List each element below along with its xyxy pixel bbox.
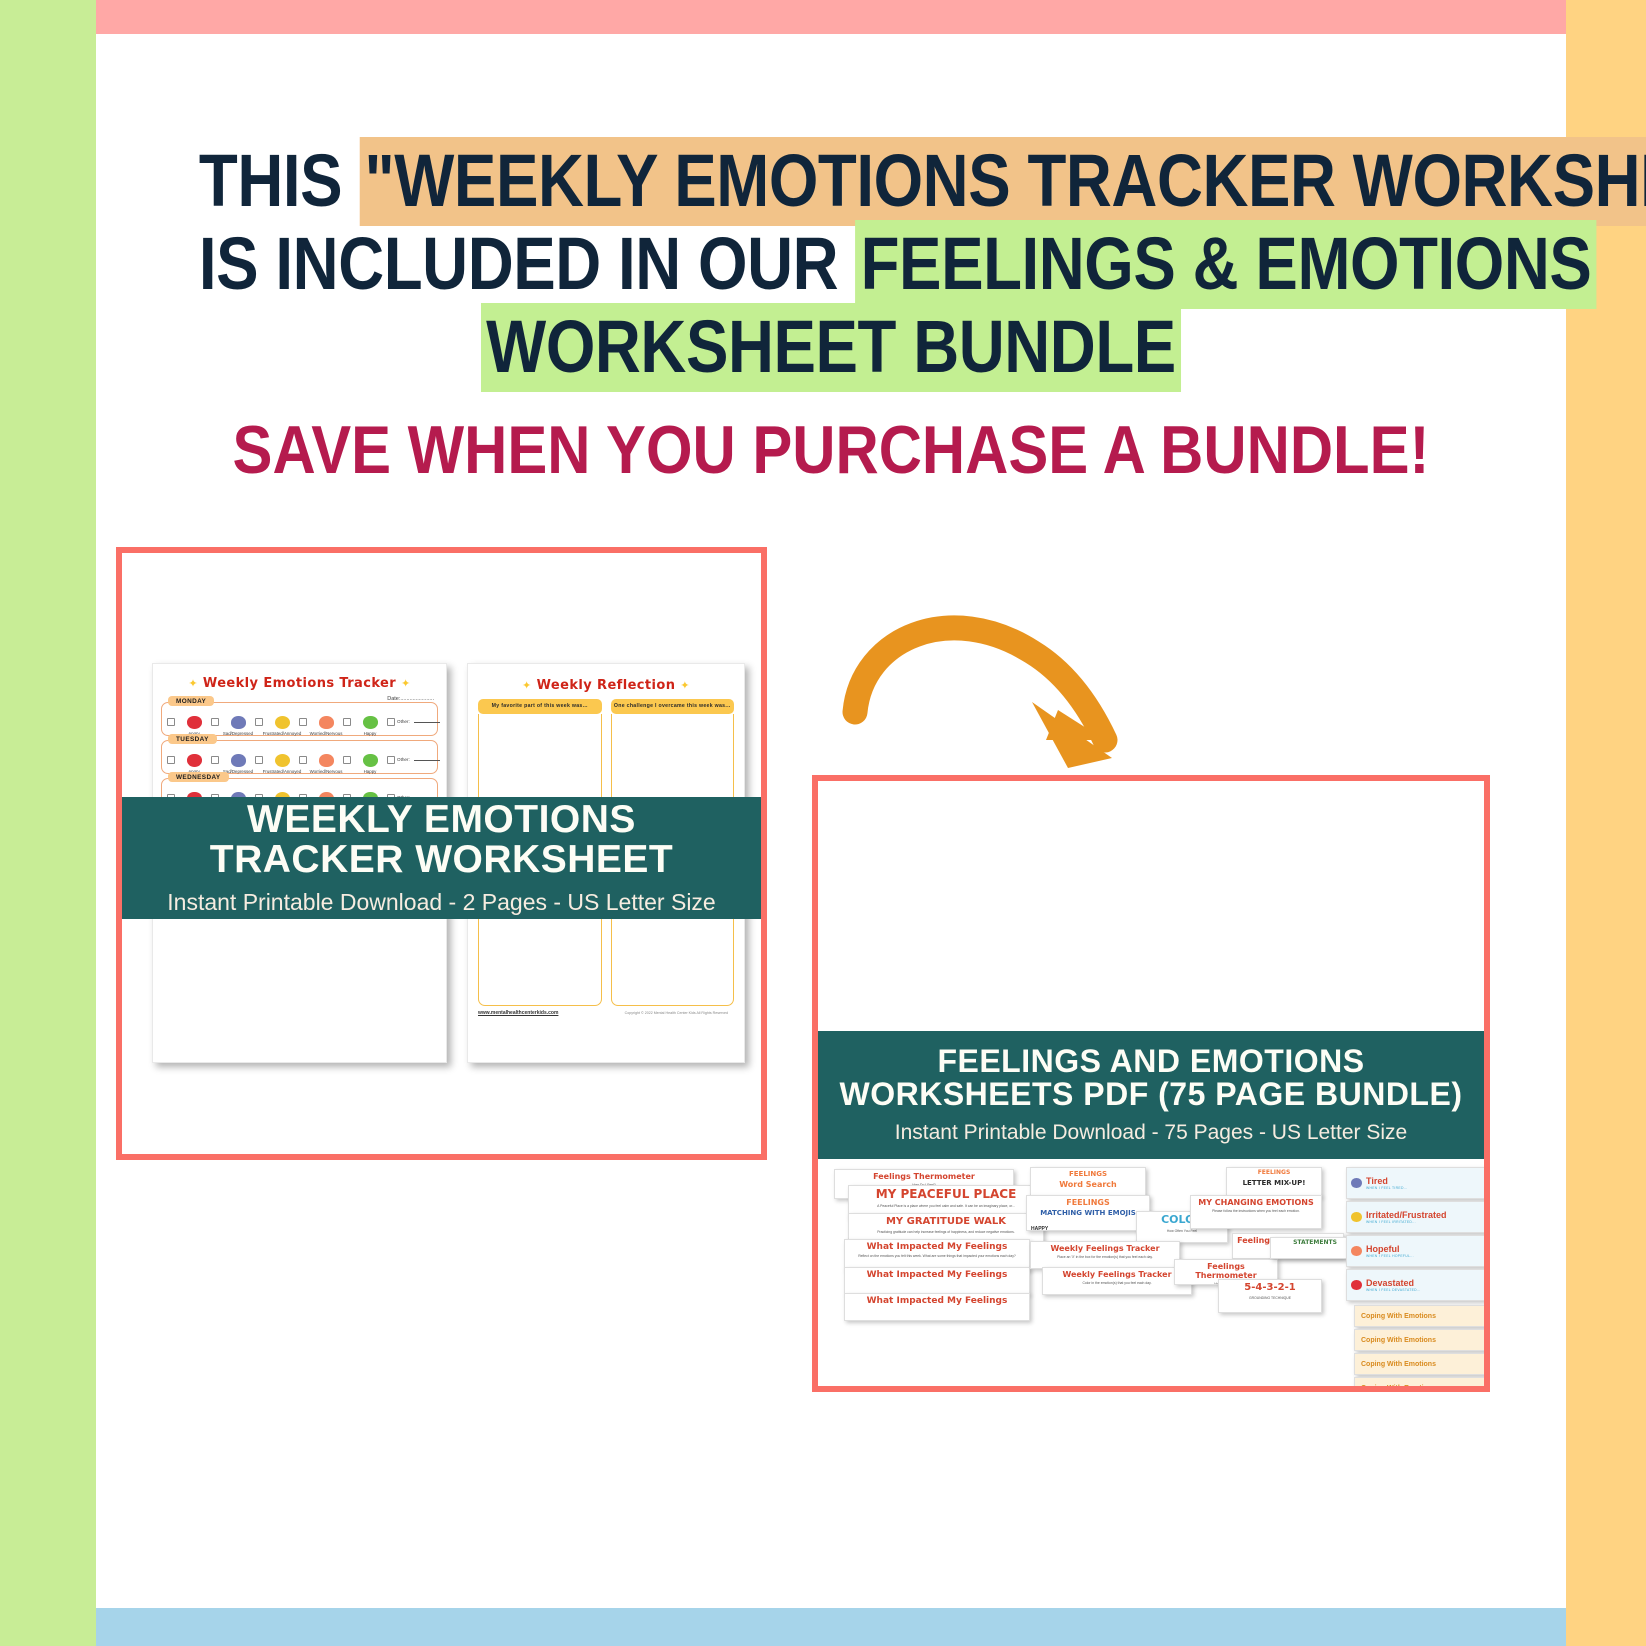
emotion-icon-wrap: Worried/Nervous [309,754,343,774]
emotion-checkbox[interactable] [299,718,307,726]
worksheet-banner-title-line2: TRACKER WORKSHEET [210,840,674,880]
emotion-option-other[interactable]: Other: [387,754,440,764]
emotion-face-icon [1351,1246,1362,1256]
emotion-option[interactable]: Frustrated/Annoyed [255,754,299,774]
thumbnail-title: What Impacted My Feelings [845,1270,1029,1280]
day-block: MONDAYAngrySad/DepressedFrustrated/Annoy… [161,702,438,736]
emotion-face-angry-icon [187,716,202,729]
emotion-card-thumbnail: HopefulWHEN I FEEL HOPEFUL... [1346,1235,1484,1267]
headline-line-2-highlight: FEELINGS & EMOTIONS [855,220,1596,309]
emotion-card-thumbnail: Irritated/FrustratedWHEN I FEEL IRRITATE… [1346,1201,1484,1233]
emotion-face-angry-icon [187,754,202,767]
frame-border-top [96,0,1566,34]
day-label: MONDAY [168,696,214,706]
other-checkbox[interactable] [387,718,395,726]
emotion-icon-wrap: Angry [177,754,211,774]
emotion-card-subtitle: WHEN I FEEL IRRITATED... [1366,1220,1447,1224]
emotion-option[interactable]: Worried/Nervous [299,754,343,774]
other-checkbox[interactable] [387,756,395,764]
thumbnail-description: How Often You Feel [1137,1229,1227,1233]
emotion-face-icon [1351,1280,1362,1290]
emotion-option-other[interactable]: Other: [387,716,440,726]
coping-card-label: Coping With Emotions [1361,1385,1436,1387]
headline-line-1: THIS "WEEKLY EMOTIONS TRACKER WORKSHEET" [199,140,1463,223]
emotion-checkbox[interactable] [255,756,263,764]
headline-line-1-highlight: "WEEKLY EMOTIONS TRACKER WORKSHEET" [359,137,1646,226]
thumbnail-description: Color in the emotion(s) that you feel ea… [1043,1281,1191,1285]
emotion-face-frus-icon [275,754,290,767]
emotion-label: Worried/Nervous [310,731,343,736]
emotion-option[interactable]: Happy [343,754,387,774]
emotion-label: Happy [364,769,377,774]
emotion-option[interactable]: Happy [343,716,387,736]
emotion-face-icon [1351,1212,1362,1222]
bundle-banner-title-line2: WORKSHEETS PDF (75 PAGE BUNDLE) [840,1078,1463,1111]
reflection-prompt-2-label: One challenge I overcame this week was..… [611,699,735,714]
bundle-page-thumbnail: FEELINGSMATCHING WITH EMOJISHAPPY [1026,1195,1150,1231]
emotion-card-subtitle: WHEN I FEEL TIRED... [1366,1186,1407,1190]
frame-border-left [0,0,96,1646]
worksheet-banner-subtitle: Instant Printable Download - 2 Pages - U… [167,889,715,916]
thumbnail-description: GROUNDING TECHNIQUE [1219,1296,1321,1300]
other-input-line[interactable] [414,754,440,761]
emotion-label: Happy [364,731,377,736]
thumbnail-title: LETTER MIX-UP! [1227,1179,1321,1187]
thumbnail-title: What Impacted My Feelings [845,1296,1029,1306]
emotion-card-label: Devastated [1366,1278,1421,1288]
headline-line-3: WORKSHEET BUNDLE [199,306,1463,389]
emotion-option[interactable]: Angry [167,754,211,774]
emotion-face-happy-icon [363,716,378,729]
coping-card-label: Coping With Emotions [1361,1337,1436,1344]
emotion-card-label: Irritated/Frustrated [1366,1210,1447,1220]
thumbnail-description: Place an 'X' in the box for the emotion(… [1031,1255,1179,1259]
emotion-row: AngrySad/DepressedFrustrated/AnnoyedWorr… [162,710,437,736]
coping-card-label: Coping With Emotions [1361,1313,1436,1320]
thumbnail-subtitle: FEELINGS [1031,1170,1145,1178]
emotion-face-sad-icon [231,754,246,767]
emotion-option[interactable]: Sad/Depressed [211,716,255,736]
emotion-checkbox[interactable] [211,756,219,764]
thumbnail-title: Weekly Feelings Tracker [1031,1244,1179,1253]
sparkle-icon: ✦ [188,677,198,690]
emotion-face-frus-icon [275,716,290,729]
product-card-bundle[interactable]: Managing My Emotionswith Coping SkillsCo… [812,775,1490,1392]
day-label: TUESDAY [168,734,217,744]
day-label: WEDNESDAY [168,772,229,782]
emotion-checkbox[interactable] [299,756,307,764]
thumbnail-title: What Impacted My Feelings [845,1242,1029,1252]
worksheet-banner: WEEKLY EMOTIONS TRACKER WORKSHEET Instan… [122,797,761,919]
bundle-preview: Managing My Emotionswith Coping SkillsCo… [818,781,1484,1386]
thumbnail-title: MY GRATITUDE WALK [849,1216,1043,1228]
thumbnail-tag: HAPPY [1031,1226,1048,1231]
emotion-label: Frustrated/Annoyed [263,731,302,736]
thumbnail-description: Reflect on the emotions you felt this we… [845,1254,1029,1258]
reflection-title-row: ✦ Weekly Reflection ✦ [468,678,744,693]
day-block: TUESDAYAngrySad/DepressedFrustrated/Anno… [161,740,438,774]
emotion-row: AngrySad/DepressedFrustrated/AnnoyedWorr… [162,748,437,774]
emotion-icon-wrap: Frustrated/Annoyed [265,716,299,736]
thumbnail-title: Feelings Thermometer [1175,1262,1277,1280]
coping-card-thumbnail: Coping With Emotions [1354,1305,1484,1327]
bundle-banner-subtitle: Instant Printable Download - 75 Pages - … [895,1121,1407,1145]
emotion-icon-wrap: Happy [353,754,387,774]
headline-line-3-highlight: WORKSHEET BUNDLE [481,303,1181,392]
thumbnail-subtitle: FEELINGS [1027,1198,1149,1207]
thumbnail-description: Practicing gratitude can help increase f… [849,1230,1043,1234]
bundle-page-thumbnail: What Impacted My Feelings [844,1293,1030,1321]
emotion-label: Frustrated/Annoyed [263,769,302,774]
sparkle-icon: ✦ [680,679,690,692]
reflection-title: Weekly Reflection [537,678,676,693]
emotion-checkbox[interactable] [211,718,219,726]
other-input-line[interactable] [414,716,440,723]
emotion-icon-wrap: Worried/Nervous [309,716,343,736]
headline-line-1-prefix: THIS [199,139,359,222]
emotion-card-label: Hopeful [1366,1244,1414,1254]
thumbnail-title: Word Search [1031,1180,1145,1189]
emotion-card-thumbnail: TiredWHEN I FEEL TIRED... [1346,1167,1484,1199]
tracker-title-row: ✦ Weekly Emotions Tracker ✦ [153,676,446,691]
reflection-prompt-1-label: My favorite part of this week was... [478,699,602,714]
emotion-label: Sad/Depressed [223,731,253,736]
bundle-banner-title-line1: FEELINGS AND EMOTIONS [840,1045,1463,1078]
thumbnail-title: Weekly Feelings Tracker [1043,1270,1191,1279]
worksheet-banner-title-line1: WEEKLY EMOTIONS [210,800,674,840]
thumbnail-description: A Peaceful Place is a place where you fe… [849,1204,1043,1208]
thumbnail-description: Please follow the instructions when you … [1191,1209,1321,1213]
emotion-checkbox[interactable] [343,718,351,726]
emotion-card-subtitle: WHEN I FEEL DEVASTATED... [1366,1288,1421,1292]
bundle-page-thumbnail: MY CHANGING EMOTIONSPlease follow the in… [1190,1195,1322,1229]
emotion-face-worry-icon [319,754,334,767]
emotion-checkbox[interactable] [167,718,175,726]
emotion-face-sad-icon [231,716,246,729]
sparkle-icon: ✦ [522,679,532,692]
other-label: Other: [397,719,410,724]
bundle-banner-title: FEELINGS AND EMOTIONS WORKSHEETS PDF (75… [840,1045,1463,1110]
emotion-icon-wrap: Sad/Depressed [221,716,255,736]
curved-arrow-icon [800,590,1130,780]
worksheet-preview: ✦ Weekly Emotions Tracker ✦ Date:.......… [122,553,761,1154]
coping-card-thumbnail: Coping With Emotions [1354,1353,1484,1375]
worksheet-banner-title: WEEKLY EMOTIONS TRACKER WORKSHEET [210,800,674,880]
bundle-page-thumbnail: 5-4-3-2-1GROUNDING TECHNIQUE [1218,1279,1322,1313]
emotion-icon-wrap: Sad/Depressed [221,754,255,774]
emotion-option[interactable]: Angry [167,716,211,736]
emotion-card-label: Tired [1366,1176,1407,1186]
emotion-face-happy-icon [363,754,378,767]
product-card-worksheet[interactable]: ✦ Weekly Emotions Tracker ✦ Date:.......… [116,547,767,1160]
thumbnail-title: 5-4-3-2-1 [1219,1282,1321,1294]
reflection-copyright: Copyright © 2022 Mental Health Center Ki… [625,1011,736,1016]
emotion-card-subtitle: WHEN I FEEL HOPEFUL... [1366,1254,1414,1258]
reflection-url[interactable]: www.mentalhealthcenterkids.com [478,1010,558,1016]
emotion-icon-wrap: Angry [177,716,211,736]
thumbnail-subtitle: FEELINGS [1227,1170,1321,1177]
emotion-face-icon [1351,1178,1362,1188]
emotion-option[interactable]: Sad/Depressed [211,754,255,774]
bundle-banner: FEELINGS AND EMOTIONS WORKSHEETS PDF (75… [818,1031,1484,1159]
bundle-page-thumbnail: What Impacted My Feelings [844,1267,1030,1295]
headline-line-2-prefix: IS INCLUDED IN OUR [199,222,856,305]
headline-line-2: IS INCLUDED IN OUR FEELINGS & EMOTIONS [199,223,1463,306]
coping-card-thumbnail: Coping With Emotions [1354,1377,1484,1386]
tracker-title: Weekly Emotions Tracker [203,676,396,691]
bundle-page-thumbnail: FEELINGSLETTER MIX-UP! [1226,1167,1322,1197]
emotion-icon-wrap: Frustrated/Annoyed [265,754,299,774]
bundle-page-thumbnail: Weekly Feelings TrackerPlace an 'X' in t… [1030,1241,1180,1269]
emotion-checkbox[interactable] [255,718,263,726]
emotion-icon-wrap: Happy [353,716,387,736]
coping-card-label: Coping With Emotions [1361,1361,1436,1368]
emotion-option[interactable]: Frustrated/Annoyed [255,716,299,736]
emotion-label: Worried/Nervous [310,769,343,774]
thumbnail-title: Feelings Thermometer [835,1172,1013,1181]
thumbnail-title: MATCHING WITH EMOJIS [1027,1209,1149,1217]
thumbnail-title: MY PEACEFUL PLACE [849,1188,1043,1202]
save-callout: SAVE WHEN YOU PURCHASE A BUNDLE! [184,411,1478,489]
frame-border-bottom [96,1608,1566,1646]
page-root: THIS "WEEKLY EMOTIONS TRACKER WORKSHEET"… [0,0,1646,1646]
emotion-checkbox[interactable] [343,756,351,764]
emotion-checkbox[interactable] [167,756,175,764]
other-label: Other: [397,757,410,762]
emotion-face-worry-icon [319,716,334,729]
sparkle-icon: ✦ [401,677,411,690]
emotion-card-thumbnail: DevastatedWHEN I FEEL DEVASTATED... [1346,1269,1484,1301]
thumbnail-title: MY CHANGING EMOTIONS [1191,1198,1321,1207]
coping-card-thumbnail: Coping With Emotions [1354,1329,1484,1351]
emotion-option[interactable]: Worried/Nervous [299,716,343,736]
bundle-page-thumbnail: Weekly Feelings TrackerColor in the emot… [1042,1267,1192,1295]
headline-block: THIS "WEEKLY EMOTIONS TRACKER WORKSHEET"… [96,140,1566,489]
